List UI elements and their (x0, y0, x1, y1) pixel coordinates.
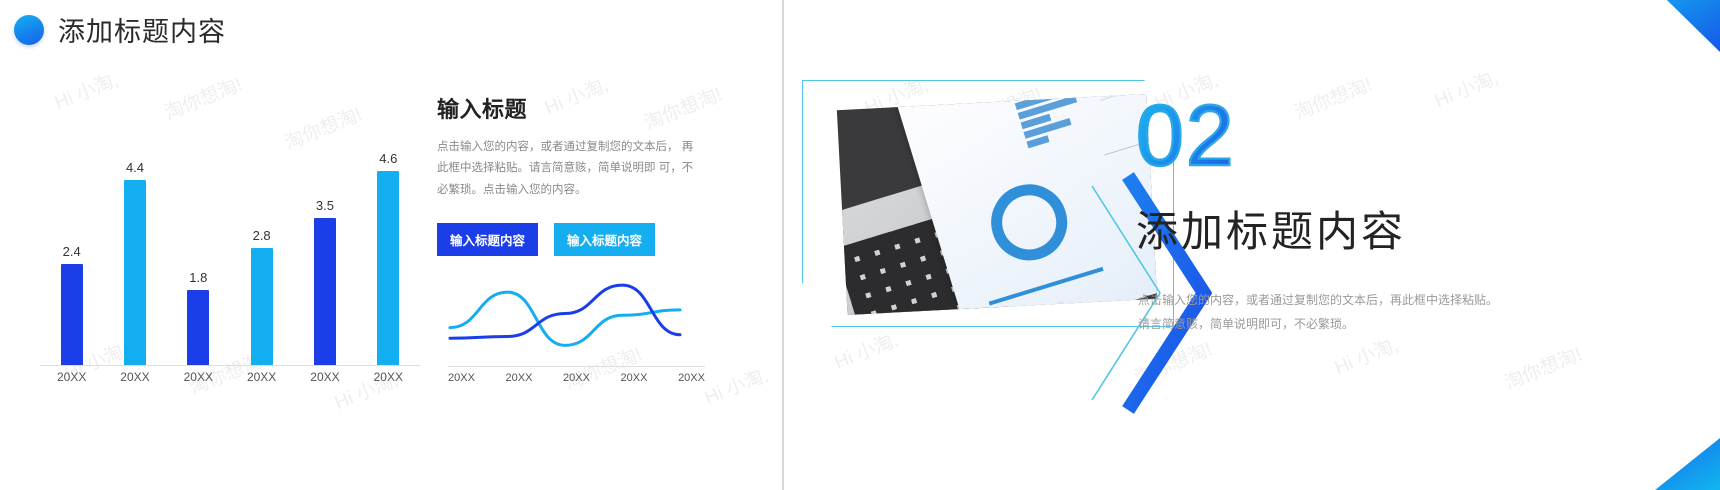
bar-x-label: 20XX (172, 370, 224, 390)
bar-chart-x-labels: 20XX20XX20XX20XX20XX20XX (40, 370, 420, 390)
watermark: Hi 小淘, (50, 65, 122, 115)
watermark: Hi 小淘, (700, 360, 772, 410)
primary-action-button[interactable]: 输入标题内容 (437, 223, 538, 256)
bar-column: 1.8 (172, 146, 224, 366)
button-row: 输入标题内容 输入标题内容 (437, 223, 697, 256)
slide-header: 添加标题内容 (14, 10, 226, 49)
bar-value-label: 3.5 (316, 198, 334, 213)
bar-rect (377, 171, 399, 366)
section-body: 点击输入您的内容，或者通过复制您的文本后，再此框中选择粘贴。 请言简意赅，简单说… (1138, 288, 1608, 336)
watermark: 淘你想淘! (160, 70, 245, 125)
bar-chart: 2.44.41.82.83.54.6 20XX20XX20XX20XX20XX2… (40, 120, 420, 390)
bar-column: 2.4 (46, 146, 98, 366)
photo-frame (802, 80, 1192, 330)
bar-column: 4.6 (362, 146, 414, 366)
bar-x-label: 20XX (362, 370, 414, 390)
bar-rect (187, 290, 209, 366)
bar-value-label: 1.8 (189, 270, 207, 285)
text-block-title: 输入标题 (437, 92, 697, 124)
text-block: 输入标题 点击输入您的内容，或者通过复制您的文本后， 再此框中选择粘贴。请言简意… (437, 92, 697, 256)
line-x-label: 20XX (563, 372, 590, 390)
bar-value-label: 4.6 (379, 151, 397, 166)
bar-rect (61, 264, 83, 366)
bar-value-label: 4.4 (126, 160, 144, 175)
bar-x-label: 20XX (109, 370, 161, 390)
section-number: 02 (1136, 96, 1236, 178)
line-x-label: 20XX (678, 372, 705, 390)
line-chart-x-labels: 20XX20XX20XX20XX20XX (448, 372, 705, 390)
line-chart-axis-line (448, 366, 705, 367)
bar-x-label: 20XX (46, 370, 98, 390)
bar-rect (314, 218, 336, 366)
bar-column: 3.5 (299, 146, 351, 366)
bullet-dot-icon (14, 15, 44, 45)
page-title: 添加标题内容 (58, 10, 226, 49)
donut-chart-graphic (982, 175, 1077, 270)
text-block-body-line1: 点击输入您的内容，或者通过复制您的文本后， (437, 141, 679, 153)
line-x-label: 20XX (448, 372, 475, 390)
section-title: 添加标题内容 (1136, 198, 1406, 259)
line-chart: 20XX20XX20XX20XX20XX (440, 268, 705, 390)
bar-series: 2.44.41.82.83.54.6 (40, 146, 420, 366)
bar-column: 2.8 (236, 146, 288, 366)
line-x-label: 20XX (621, 372, 648, 390)
section-body-line1: 点击输入您的内容，或者通过复制您的文本后，再此框中选择粘贴。 (1138, 288, 1608, 312)
bar-value-label: 2.4 (63, 244, 81, 259)
bar-value-label: 2.8 (253, 228, 271, 243)
line-x-label: 20XX (506, 372, 533, 390)
bar-x-label: 20XX (299, 370, 351, 390)
section-body-line2: 请言简意赅，简单说明即可，不必繁琐。 (1138, 312, 1608, 336)
bar-chart-axis-line (40, 365, 420, 366)
line-chart-svg (440, 268, 705, 368)
right-pane: 02 添加标题内容 点击输入您的内容，或者通过复制您的文本后，再此框中选择粘贴。… (784, 0, 1720, 490)
bar-rect (251, 248, 273, 366)
line-series-blue (450, 285, 680, 338)
secondary-action-button[interactable]: 输入标题内容 (554, 223, 655, 256)
text-block-body: 点击输入您的内容，或者通过复制您的文本后， 再此框中选择粘贴。请言简意赅，简单说… (437, 137, 697, 201)
slide-canvas: 添加标题内容 Hi 小淘, 淘你想淘! 淘你想淘! Hi 小淘, 淘你想淘! H… (0, 0, 1720, 490)
bar-x-label: 20XX (236, 370, 288, 390)
bar-column: 4.4 (109, 146, 161, 366)
bar-rect (124, 180, 146, 366)
